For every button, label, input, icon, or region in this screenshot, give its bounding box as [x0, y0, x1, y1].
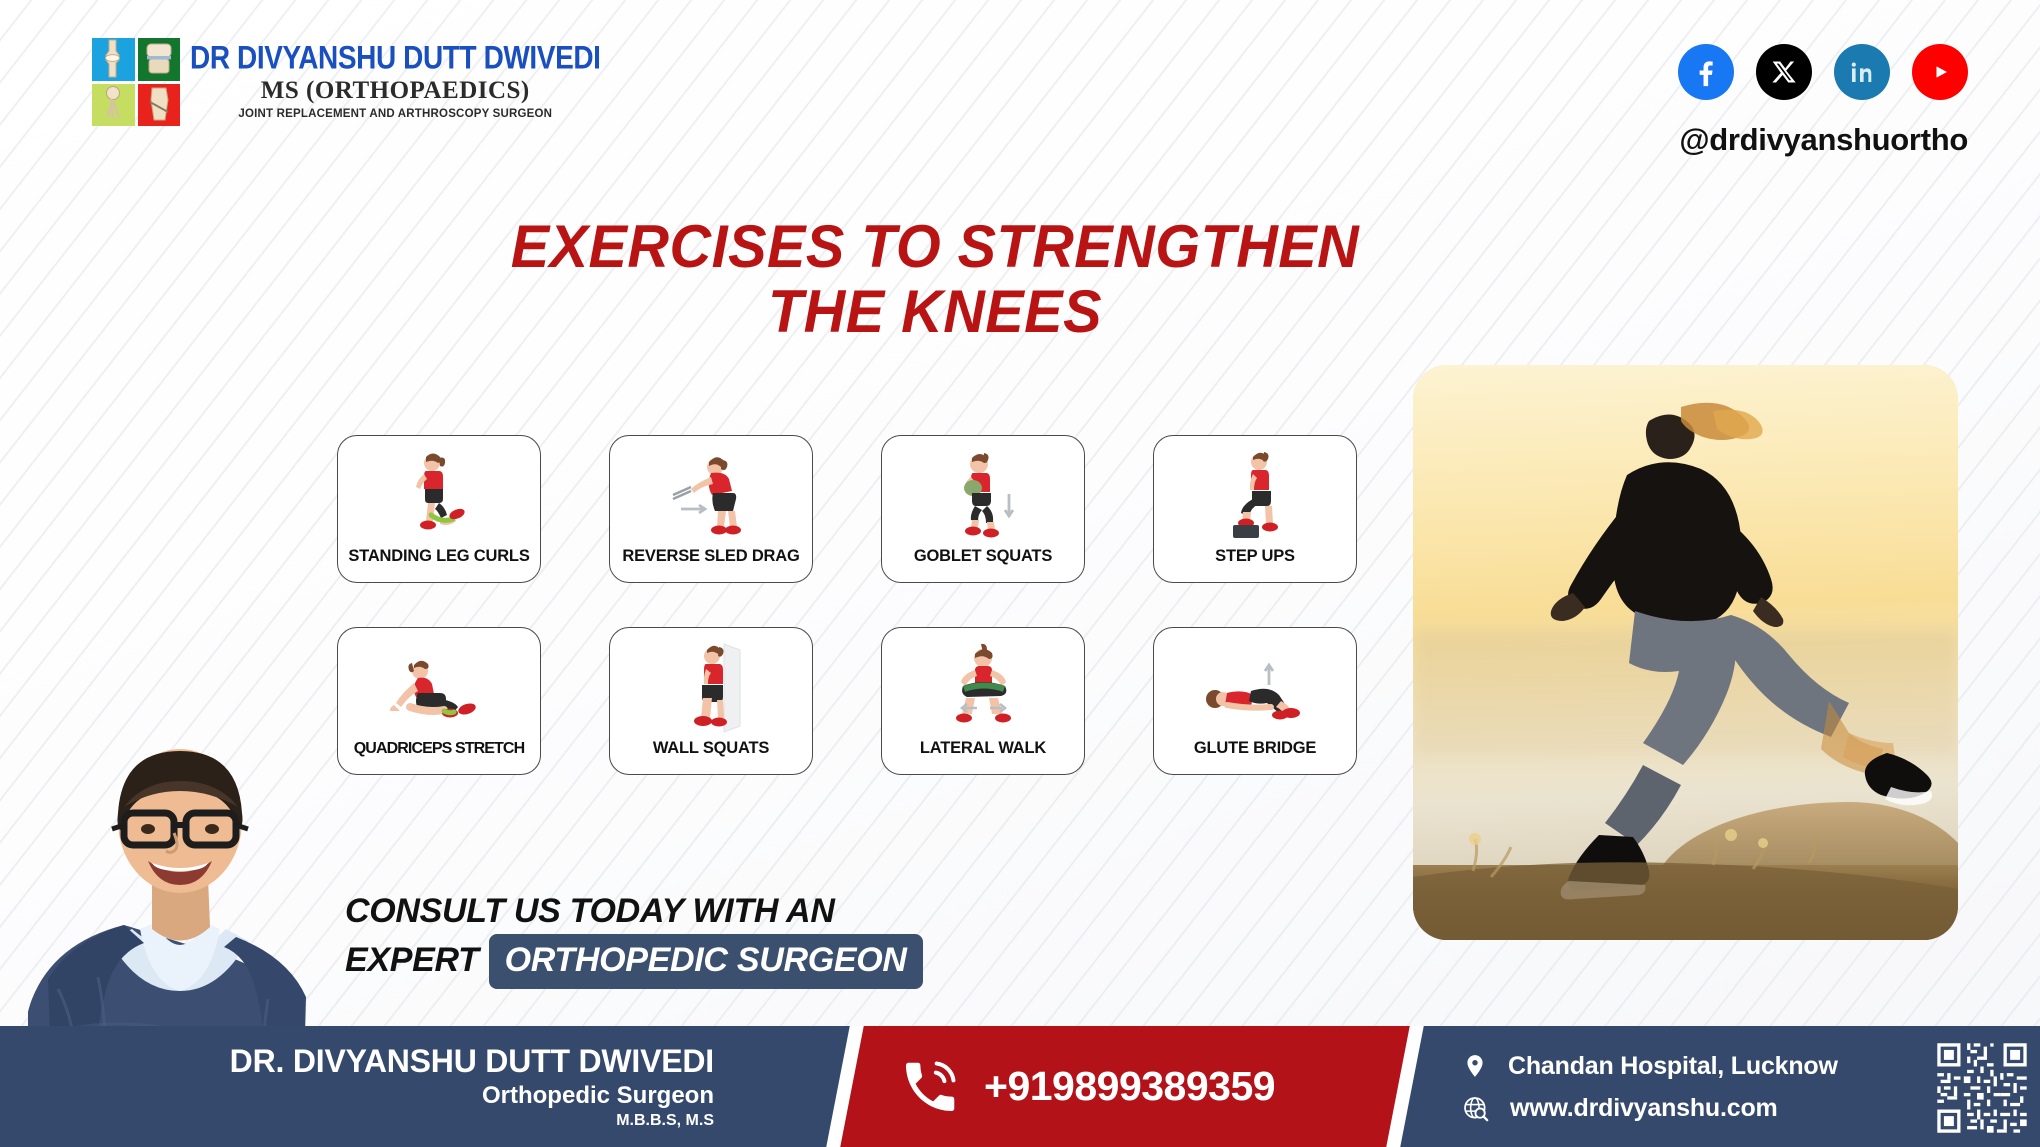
goblet-squat-figure [882, 436, 1084, 547]
logo-tile-knee-implant [138, 38, 181, 81]
phone-ringing-icon [898, 1055, 962, 1119]
step-up-figure [1154, 436, 1356, 547]
page-title: EXERCISES TO STRENGTHEN THE KNEES [369, 215, 1502, 345]
social-icon-row [1678, 44, 1968, 100]
logo-tile-bone-repair [138, 84, 181, 127]
bone-plate-icon [143, 86, 175, 124]
cta-line-2: EXPERTORTHOPEDIC SURGEON [345, 934, 923, 990]
cta-badge: ORTHOPEDIC SURGEON [489, 934, 923, 990]
implant-icon [141, 41, 177, 77]
poster-canvas: DR DIVYANSHU DUTT DWIVEDI MS (ORTHOPAEDI… [0, 0, 2040, 1147]
running-woman-silhouette [1413, 365, 1958, 940]
footer-doctor-block: DR. DIVYANSHU DUTT DWIVEDI Orthopedic Su… [0, 1026, 800, 1147]
clinic-logo: DR DIVYANSHU DUTT DWIVEDI MS (ORTHOPAEDI… [92, 38, 601, 126]
exercise-label: GOBLET SQUATS [914, 547, 1052, 582]
call-to-action: CONSULT US TODAY WITH AN EXPERTORTHOPEDI… [345, 890, 923, 989]
qr-code[interactable] [1934, 1040, 2030, 1136]
exercise-label: STEP UPS [1215, 547, 1295, 582]
facebook-icon[interactable] [1678, 44, 1734, 100]
title-line-2: THE KNEES [369, 280, 1502, 345]
footer-phone-block[interactable]: +919899389359 [898, 1026, 1275, 1147]
linkedin-icon[interactable] [1834, 44, 1890, 100]
exercise-label: QUADRICEPS STRETCH [354, 740, 524, 774]
exercise-card-reverse-sled-drag[interactable]: REVERSE SLED DRAG [609, 435, 813, 583]
hip-bone-icon [100, 85, 126, 125]
exercise-label: GLUTE BRIDGE [1194, 739, 1316, 774]
footer-location-text: Chandan Hospital, Lucknow [1508, 1052, 1838, 1081]
x-twitter-icon[interactable] [1756, 44, 1812, 100]
exercise-card-lateral-walk[interactable]: LATERAL WALK [881, 627, 1085, 775]
exercise-card-wall-squats[interactable]: WALL SQUATS [609, 627, 813, 775]
location-pin-icon [1462, 1050, 1488, 1082]
exercise-card-step-ups[interactable]: STEP UPS [1153, 435, 1357, 583]
title-line-1: EXERCISES TO STRENGTHEN [511, 213, 1360, 280]
logo-specialty: JOINT REPLACEMENT AND ARTHROSCOPY SURGEO… [238, 109, 552, 121]
lateral-walk-figure [882, 628, 1084, 739]
globe-search-icon [1462, 1095, 1490, 1123]
logo-doctor-name: DR DIVYANSHU DUTT DWIVEDI [190, 42, 601, 74]
footer-doctor-role: Orthopedic Surgeon [482, 1082, 714, 1110]
logo-degree: MS (ORTHOPAEDICS) [261, 78, 530, 103]
cta-line-1: CONSULT US TODAY WITH AN [345, 890, 923, 934]
logo-image-tiles [92, 38, 180, 126]
knee-bone-icon [96, 39, 130, 79]
social-handle: @drdivyanshuortho [1679, 122, 1968, 158]
logo-text-block: DR DIVYANSHU DUTT DWIVEDI MS (ORTHOPAEDI… [190, 44, 601, 121]
exercise-card-goblet-squats[interactable]: GOBLET SQUATS [881, 435, 1085, 583]
exercise-card-glute-bridge[interactable]: GLUTE BRIDGE [1153, 627, 1357, 775]
footer-location-row: Chandan Hospital, Lucknow [1462, 1050, 1838, 1082]
exercise-grid: STANDING LEG CURLS [337, 435, 1357, 775]
exercise-card-standing-leg-curls[interactable]: STANDING LEG CURLS [337, 435, 541, 583]
logo-tile-hip-joint [92, 84, 135, 127]
exercise-label: REVERSE SLED DRAG [622, 547, 799, 582]
logo-tile-knee-xray [92, 38, 135, 81]
cta-prefix: EXPERT [345, 941, 479, 979]
exercise-label: STANDING LEG CURLS [348, 547, 529, 582]
exercise-card-quadriceps-stretch[interactable]: QUADRICEPS STRETCH [337, 627, 541, 775]
runner-photo [1413, 365, 1958, 940]
wall-squat-figure [610, 628, 812, 739]
glute-bridge-figure [1154, 628, 1356, 739]
footer-contact-block: Chandan Hospital, Lucknow www.drdivyansh… [1462, 1026, 1838, 1147]
quadriceps-stretch-figure [338, 628, 540, 740]
footer-doctor-name: DR. DIVYANSHU DUTT DWIVEDI [230, 1043, 714, 1080]
exercise-label: WALL SQUATS [653, 739, 769, 774]
footer-doctor-qualification: M.B.B.S, M.S [616, 1112, 714, 1130]
footer-bar: DR. DIVYANSHU DUTT DWIVEDI Orthopedic Su… [0, 1026, 2040, 1147]
standing-leg-curl-figure [338, 436, 540, 547]
footer-phone-number: +919899389359 [984, 1063, 1275, 1110]
youtube-icon[interactable] [1912, 44, 1968, 100]
reverse-sled-drag-figure [610, 436, 812, 547]
footer-website-text: www.drdivyanshu.com [1510, 1094, 1778, 1123]
exercise-label: LATERAL WALK [920, 739, 1046, 774]
footer-website-row[interactable]: www.drdivyanshu.com [1462, 1094, 1838, 1123]
